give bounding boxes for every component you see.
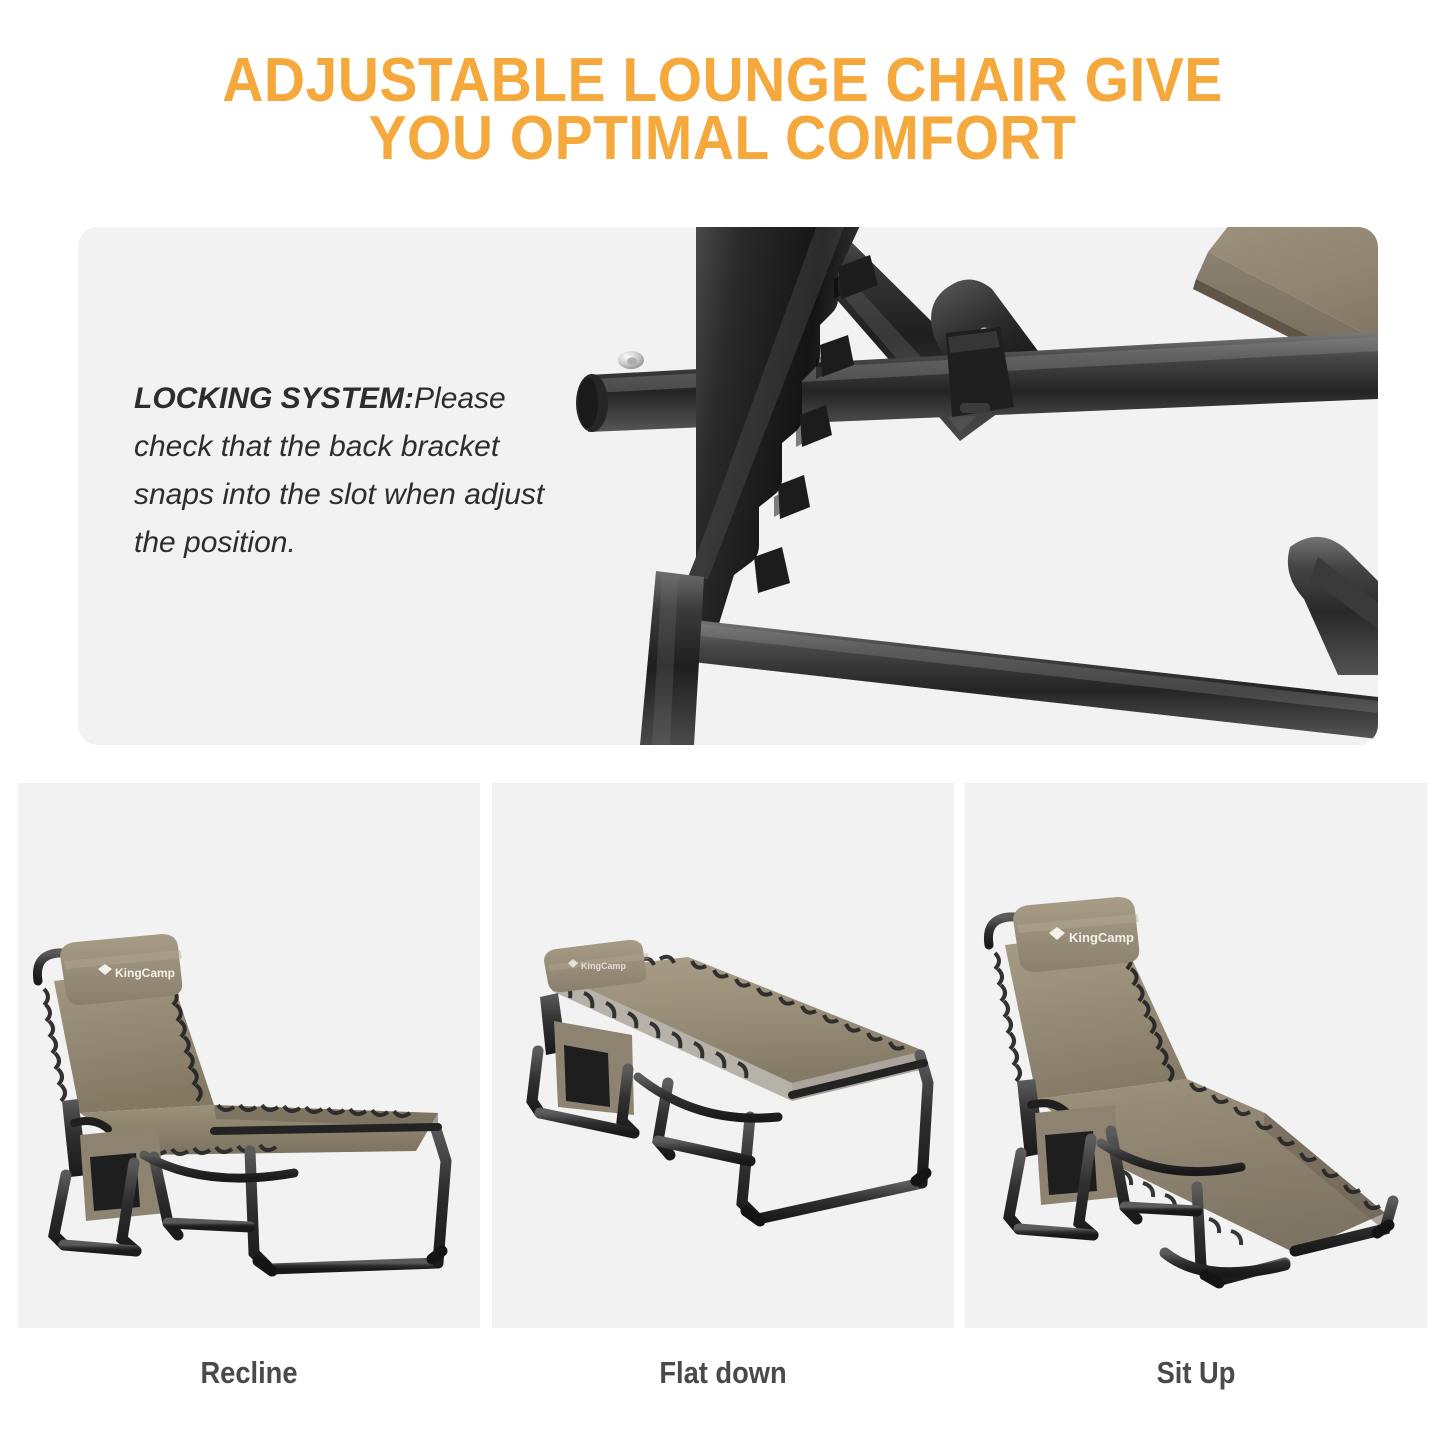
locking-system-label: LOCKING SYSTEM: <box>134 382 414 415</box>
position-card-flat-down[interactable]: KingCamp <box>492 783 954 1328</box>
caption-recline: Recline <box>46 1355 453 1405</box>
caption-flat-down: Flat down <box>519 1355 926 1405</box>
position-card-recline[interactable]: KingCamp <box>18 783 480 1328</box>
locking-bracket-photo <box>548 227 1378 745</box>
head-pillow: KingCamp <box>60 934 182 1005</box>
head-pillow: KingCamp <box>1013 897 1139 972</box>
chair-illustration-sit-up: KingCamp <box>965 783 1427 1328</box>
position-card-sit-up[interactable]: KingCamp <box>965 783 1427 1328</box>
position-captions: Recline Flat down Sit Up <box>18 1355 1427 1405</box>
caption-sit-up: Sit Up <box>993 1355 1400 1405</box>
position-gallery: KingCamp <box>18 783 1427 1328</box>
locking-system-panel: LOCKING SYSTEM:Please check that the bac… <box>78 227 1378 745</box>
chair-illustration-flat-down: KingCamp <box>492 783 954 1328</box>
side-pocket <box>1035 1105 1121 1205</box>
brand-logo-text: KingCamp <box>1069 930 1134 945</box>
chair-illustration-recline: KingCamp <box>18 783 480 1328</box>
rivet <box>618 351 644 369</box>
brand-logo-text: KingCamp <box>115 966 175 980</box>
brand-logo-text: KingCamp <box>581 961 627 971</box>
page-title: ADJUSTABLE LOUNGE CHAIR GIVE YOU OPTIMAL… <box>58 52 1387 168</box>
locking-system-callout: LOCKING SYSTEM:Please check that the bac… <box>134 375 564 567</box>
